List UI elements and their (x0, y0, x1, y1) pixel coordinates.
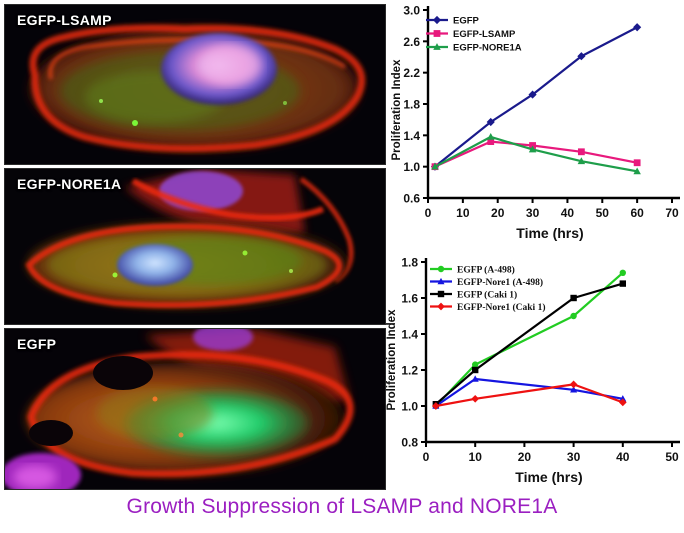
proliferation-chart-top: 0.61.01.41.82.22.63.0010203040506070Time… (386, 2, 682, 250)
micrograph-label-nore1a: EGFP-NORE1A (17, 176, 121, 192)
chart-bottom-svg: 0.81.01.21.41.61.801020304050Time (hrs)P… (386, 252, 682, 492)
svg-text:EGFP-LSAMP: EGFP-LSAMP (453, 29, 516, 40)
svg-text:2.2: 2.2 (403, 66, 420, 80)
micrograph-column: EGFP-LSAMP (4, 4, 386, 488)
fluorescence-cell-image-nore1a (5, 169, 385, 324)
svg-text:Proliferation Index: Proliferation Index (386, 309, 398, 411)
svg-text:50: 50 (596, 206, 610, 220)
svg-text:1.0: 1.0 (401, 400, 418, 414)
chart-top-svg: 0.61.01.41.82.22.63.0010203040506070Time… (386, 2, 682, 250)
svg-text:EGFP-Nore1 (A-498): EGFP-Nore1 (A-498) (457, 277, 543, 288)
svg-text:50: 50 (665, 450, 679, 464)
svg-text:1.4: 1.4 (403, 129, 420, 143)
svg-text:1.0: 1.0 (403, 160, 420, 174)
svg-text:10: 10 (469, 450, 483, 464)
svg-text:20: 20 (518, 450, 532, 464)
svg-text:Time (hrs): Time (hrs) (515, 469, 582, 485)
svg-text:30: 30 (526, 206, 540, 220)
svg-text:0.8: 0.8 (401, 436, 418, 450)
svg-text:3.0: 3.0 (403, 4, 420, 18)
svg-text:0: 0 (425, 206, 432, 220)
svg-text:Proliferation Index: Proliferation Index (391, 59, 403, 161)
svg-text:0.6: 0.6 (403, 192, 420, 206)
svg-text:0: 0 (423, 450, 430, 464)
micrograph-panel-lsamp: EGFP-LSAMP (4, 4, 386, 165)
svg-text:40: 40 (561, 206, 575, 220)
svg-text:EGFP (A-498): EGFP (A-498) (457, 264, 515, 275)
micrograph-label-egfp: EGFP (17, 336, 56, 352)
cell-render-egfp (5, 329, 385, 489)
svg-text:1.8: 1.8 (401, 256, 418, 270)
svg-text:EGFP (Caki 1): EGFP (Caki 1) (457, 289, 517, 300)
micrograph-panel-egfp: EGFP (4, 328, 386, 490)
svg-text:70: 70 (665, 206, 679, 220)
svg-text:EGFP-NORE1A: EGFP-NORE1A (453, 42, 522, 53)
svg-text:1.2: 1.2 (401, 364, 418, 378)
svg-text:EGFP: EGFP (453, 15, 480, 26)
fluorescence-cell-image-lsamp (5, 5, 385, 164)
fluorescence-cell-image-egfp (5, 329, 385, 489)
svg-text:20: 20 (491, 206, 505, 220)
cell-render-nore1a (5, 169, 385, 324)
cell-render-lsamp (5, 5, 385, 164)
svg-text:EGFP-Nore1 (Caki 1): EGFP-Nore1 (Caki 1) (457, 302, 545, 313)
svg-text:Time (hrs): Time (hrs) (516, 225, 583, 241)
svg-text:30: 30 (567, 450, 581, 464)
micrograph-panel-nore1a: EGFP-NORE1A (4, 168, 386, 325)
figure-caption: Growth Suppression of LSAMP and NORE1A (0, 495, 684, 519)
svg-text:40: 40 (616, 450, 630, 464)
svg-text:2.6: 2.6 (403, 35, 420, 49)
svg-text:1.8: 1.8 (403, 98, 420, 112)
proliferation-chart-bottom: 0.81.01.21.41.61.801020304050Time (hrs)P… (386, 252, 682, 492)
svg-text:1.4: 1.4 (401, 328, 418, 342)
svg-text:1.6: 1.6 (401, 292, 418, 306)
micrograph-label-lsamp: EGFP-LSAMP (17, 12, 112, 28)
svg-text:10: 10 (456, 206, 470, 220)
svg-text:60: 60 (630, 206, 644, 220)
